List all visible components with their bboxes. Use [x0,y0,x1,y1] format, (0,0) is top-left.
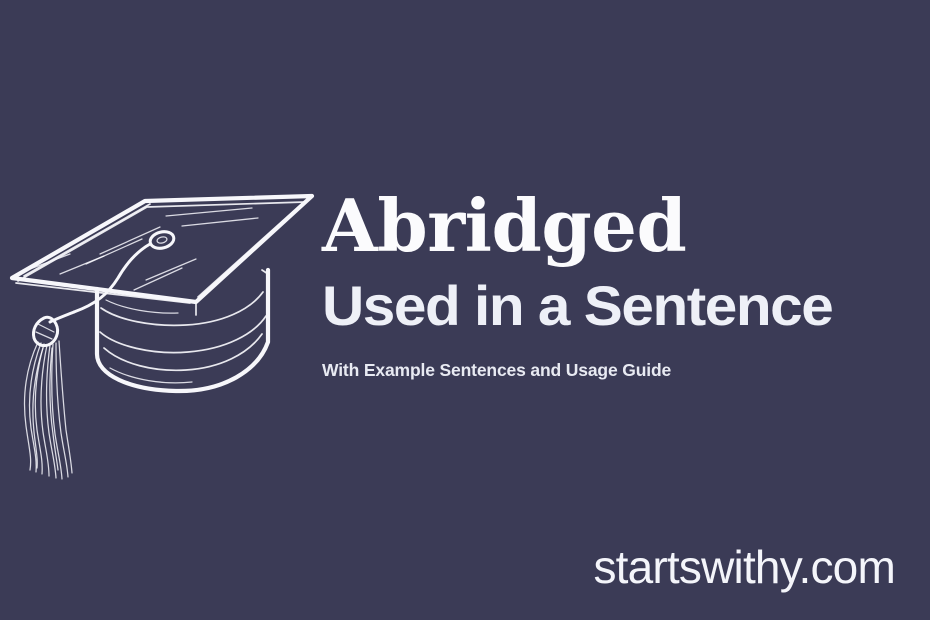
brand-watermark: startswithy.com [593,541,895,593]
graduation-cap-icon [0,182,320,452]
sub-headline: With Example Sentences and Usage Guide [322,359,918,381]
title-group: Abridged Used in a Sentence With Example… [322,186,918,381]
word-title: Abridged [322,186,918,266]
headline: Used in a Sentence [322,275,930,337]
poster-canvas: Abridged Used in a Sentence With Example… [0,0,930,620]
